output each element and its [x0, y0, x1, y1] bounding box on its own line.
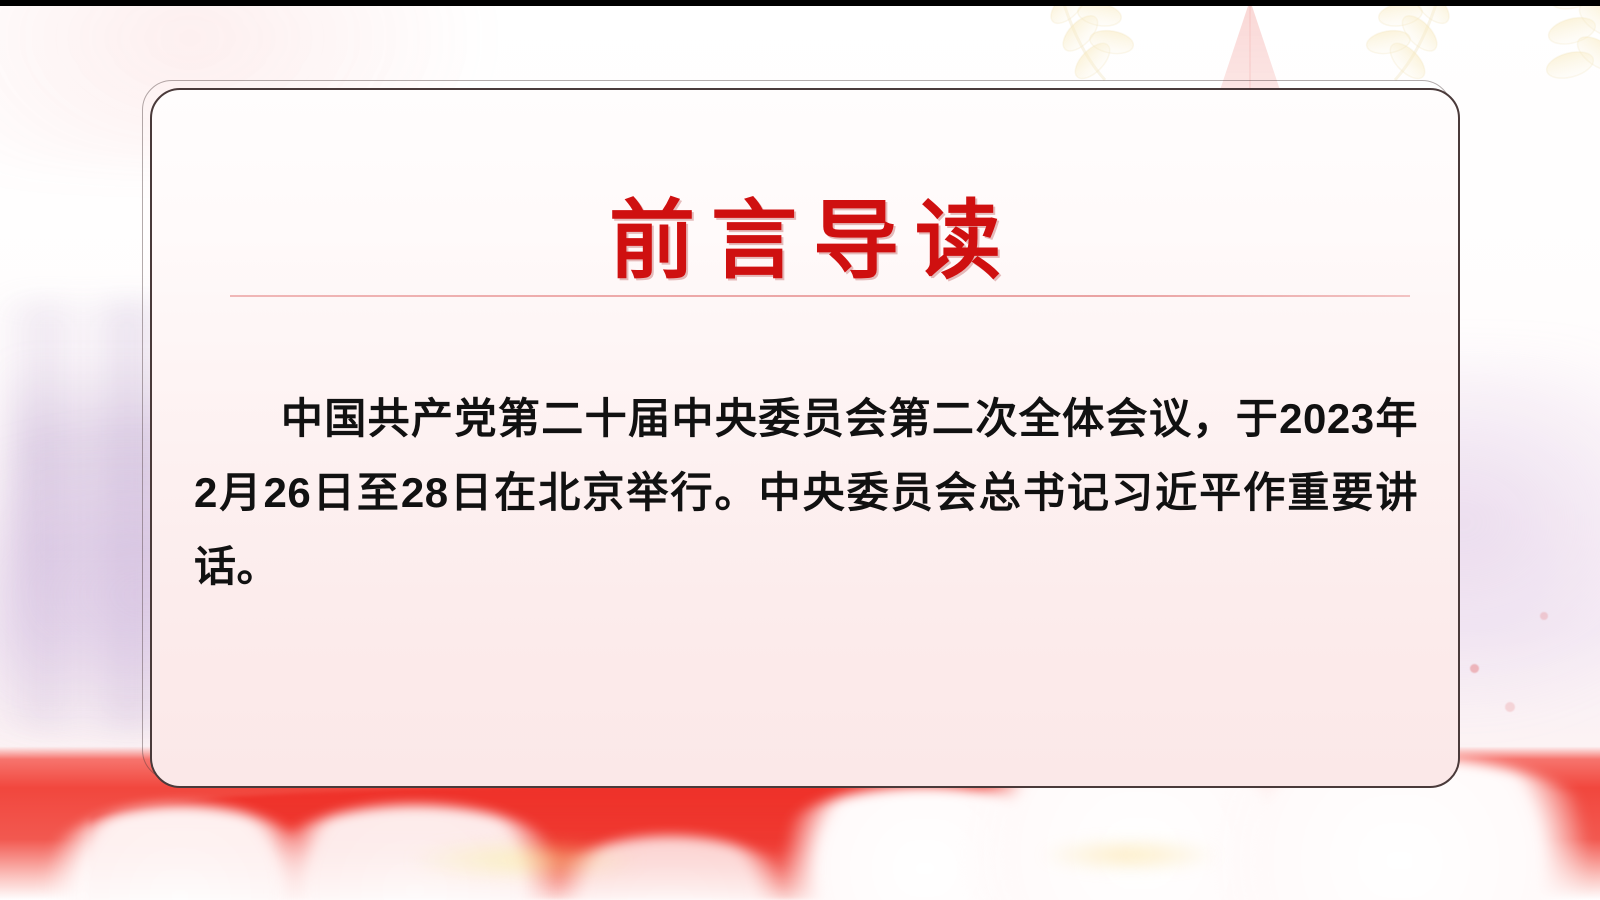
- title-divider: [230, 295, 1410, 297]
- petal-dot: [1470, 664, 1479, 673]
- page-title: 前言导读: [152, 198, 1458, 284]
- petal-dot: [1505, 702, 1515, 712]
- petal-dot: [1540, 612, 1548, 620]
- cloud-warm-highlight: [410, 840, 640, 880]
- content-card: 前言导读 中国共产党第二十届中央委员会第二次全体会议，于2023年2月26日至2…: [150, 88, 1460, 788]
- cloud-warm-highlight: [1040, 838, 1220, 872]
- slide-canvas: 前言导读 中国共产党第二十届中央委员会第二次全体会议，于2023年2月26日至2…: [0, 0, 1600, 900]
- body-paragraph: 中国共产党第二十届中央委员会第二次全体会议，于2023年2月26日至28日在北京…: [194, 382, 1418, 604]
- letterbox-bar-top: [0, 0, 1600, 6]
